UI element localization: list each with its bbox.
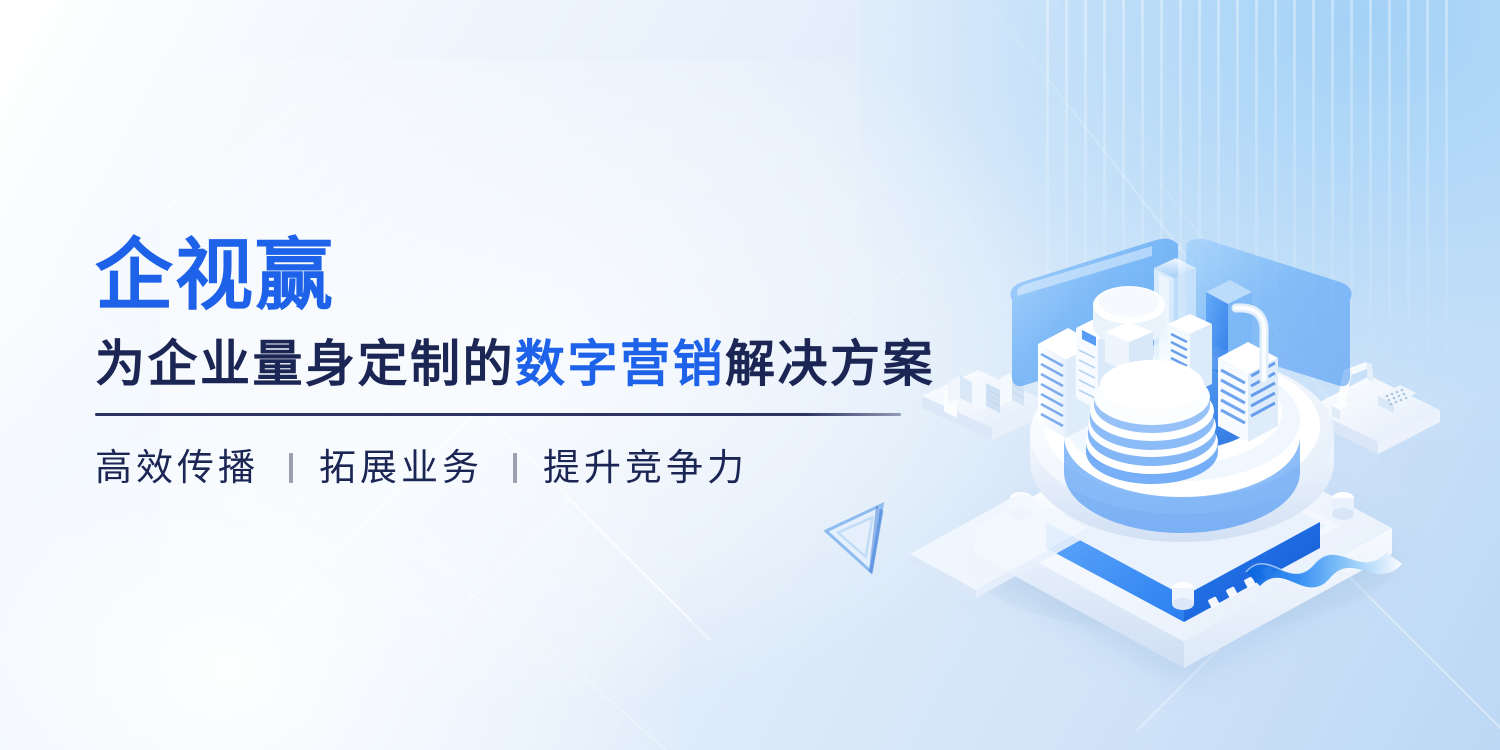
glass-backdrop — [1010, 239, 1351, 387]
headline-lead: 为企业量身定制的 — [95, 336, 515, 392]
tagline-item-1: 高效传播 — [95, 448, 259, 489]
tagline: 高效传播 拓展业务 提升竞争力 — [95, 448, 925, 489]
brand-title: 企视赢 — [95, 236, 925, 316]
headline-divider-rule — [95, 413, 901, 416]
marketing-banner: 企视赢 为企业量身定制的数字营销解决方案 高效传播 拓展业务 提升竞争力 — [0, 0, 1500, 750]
blue-band — [1046, 450, 1320, 622]
side-tray-left — [910, 492, 1088, 598]
tagline-item-3: 提升竞争力 — [543, 448, 748, 489]
tagline-item-2: 拓展业务 — [319, 448, 483, 489]
tagline-separator-1 — [289, 453, 293, 483]
base-platform — [974, 416, 1392, 668]
led-indicators — [1208, 566, 1274, 608]
background-vertical-hairlines — [1030, 0, 1460, 390]
robot-arm-platform-right — [1308, 362, 1440, 454]
background-glow-top-right — [860, 0, 1500, 440]
headline: 为企业量身定制的数字营销解决方案 — [95, 338, 925, 391]
banner-copy-block: 企视赢 为企业量身定制的数字营销解决方案 高效传播 拓展业务 提升竞争力 — [95, 236, 925, 488]
small-city-platform-left — [922, 370, 1048, 440]
background-chevron-medium — [429, 499, 712, 750]
headline-accent: 数字营销 — [515, 336, 725, 392]
stacked-disc-stadium — [1086, 360, 1218, 484]
isometric-illustration — [900, 230, 1460, 650]
headline-tail: 解决方案 — [725, 336, 935, 392]
city-buildings — [1038, 258, 1278, 484]
background-chevron-right — [1136, 546, 1500, 750]
streak-7 — [1079, 80, 1450, 554]
ground-shadow — [965, 488, 1395, 632]
streak-6 — [939, 0, 1372, 493]
circular-podium — [1030, 354, 1334, 542]
corner-pegs — [1010, 492, 1354, 610]
tagline-separator-2 — [513, 453, 517, 483]
wave-ribbon — [1246, 552, 1402, 587]
glass-triangle — [821, 497, 884, 574]
